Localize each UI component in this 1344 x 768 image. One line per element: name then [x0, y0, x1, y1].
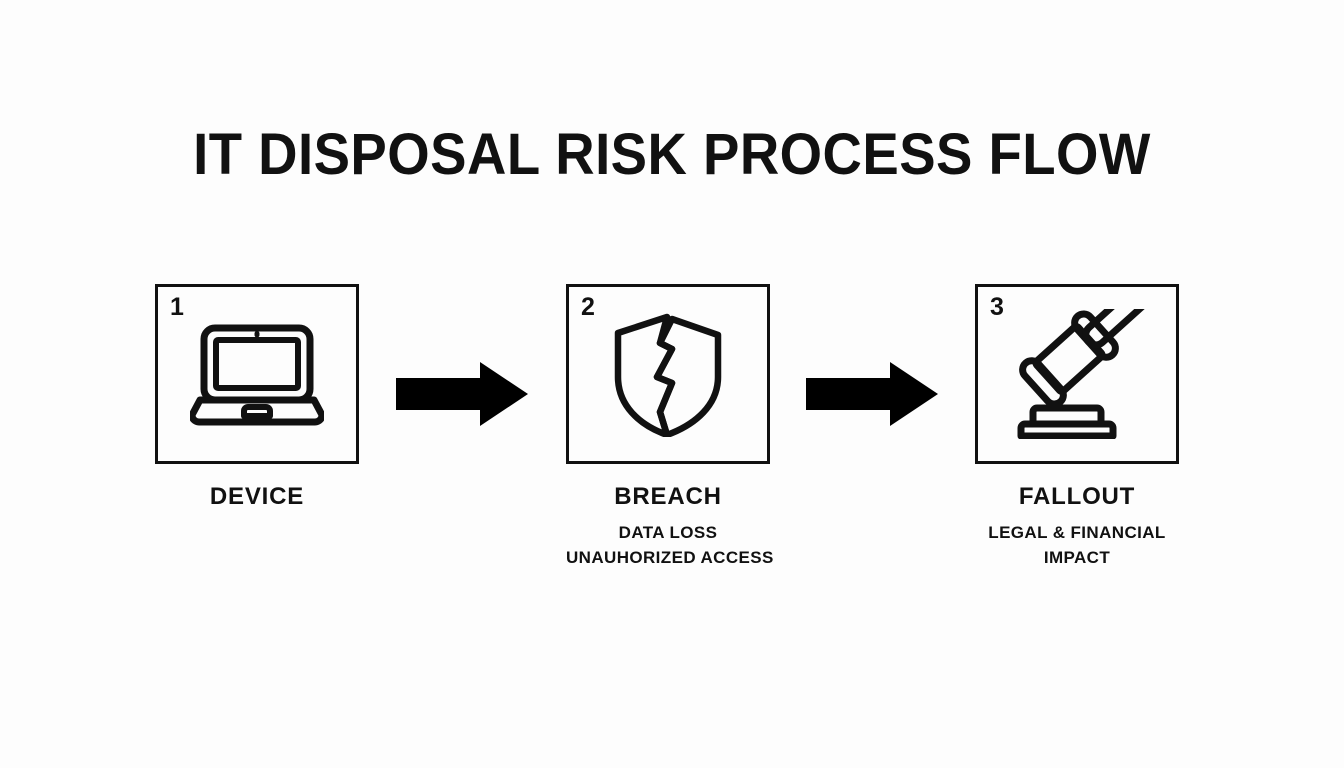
flow-step-2[interactable]: 2: [566, 284, 770, 464]
step-2-subline-1: DATA LOSS: [566, 520, 770, 545]
step-3-caption: FALLOUT LEGAL & FINANCIAL IMPACT: [975, 482, 1179, 570]
step-3-subline-2: IMPACT: [975, 545, 1179, 570]
laptop-icon: [158, 287, 356, 461]
step-3-sublines: LEGAL & FINANCIAL IMPACT: [975, 520, 1179, 570]
gavel-icon: [978, 287, 1176, 461]
flow-step-1[interactable]: 1: [155, 284, 359, 464]
step-2-sublines: DATA LOSS UNAUHORIZED ACCESS: [566, 520, 770, 570]
step-2-box: 2: [566, 284, 770, 464]
flow-step-3[interactable]: 3: [975, 284, 1179, 464]
broken-shield-icon: [569, 287, 767, 461]
step-1-caption: DEVICE: [155, 482, 359, 512]
diagram-canvas: IT DISPOSAL RISK PROCESS FLOW 1: [0, 0, 1344, 768]
page-title: IT DISPOSAL RISK PROCESS FLOW: [40, 124, 1303, 186]
step-3-label: FALLOUT: [975, 482, 1179, 512]
arrow-right-icon-1: [396, 362, 528, 426]
step-1-box: 1: [155, 284, 359, 464]
step-2-caption: BREACH DATA LOSS UNAUHORIZED ACCESS: [566, 482, 770, 570]
step-3-subline-1: LEGAL & FINANCIAL: [975, 520, 1179, 545]
step-2-label: BREACH: [566, 482, 770, 512]
arrow-right-icon-2: [806, 362, 938, 426]
step-2-subline-2: UNAUHORIZED ACCESS: [566, 545, 770, 570]
step-1-label: DEVICE: [155, 482, 359, 512]
step-3-box: 3: [975, 284, 1179, 464]
